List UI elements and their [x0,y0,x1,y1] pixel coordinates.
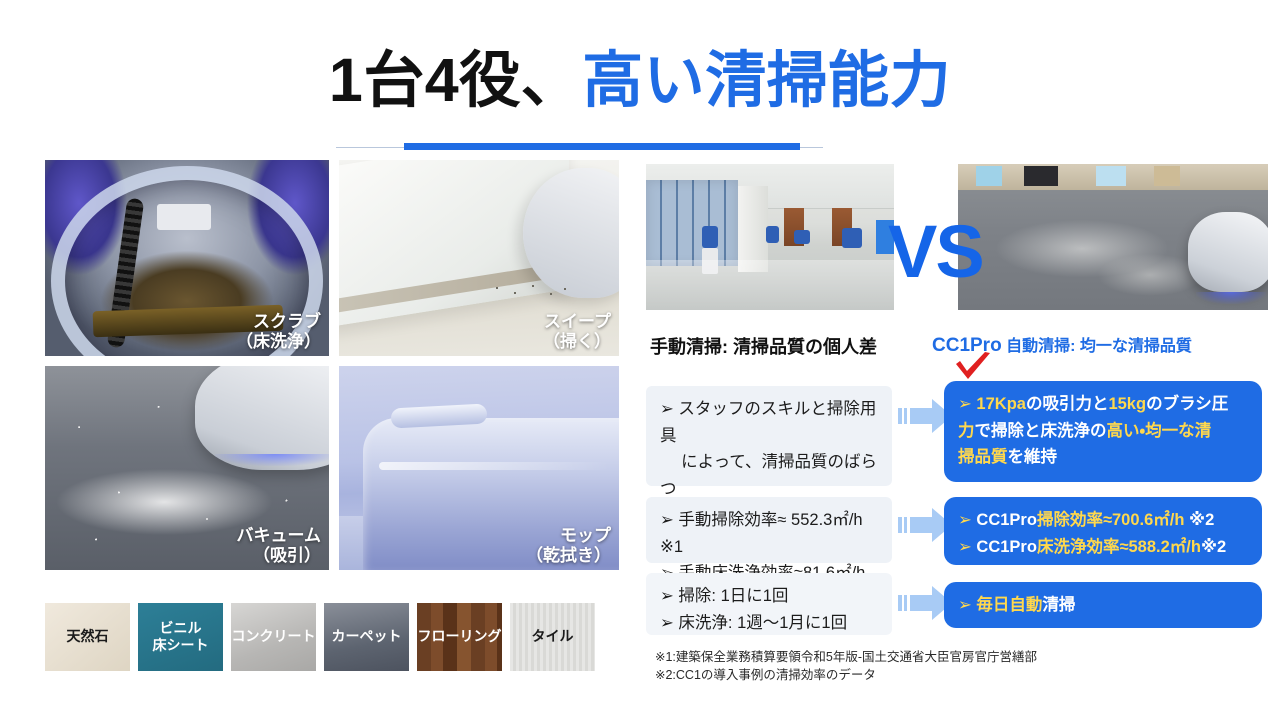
photo-scrub: スクラブ （床洗浄） [45,160,329,356]
manual-point-1: ➢ スタッフのスキルと掃除用具 によって、清掃品質のばらつ きがある [646,386,892,486]
page-title: 1台4役、高い清掃能力 [0,48,1280,112]
robot-point-2-text: ➢ CC1Pro掃除効率≈700.6㎡/h ※2 ➢ CC1Pro床洗浄効率≈5… [958,507,1248,560]
photo-vacuum: バキューム （吸引） [45,366,329,570]
swatch-vinyl-sheet: ビニル 床シート [138,603,223,671]
photo-manual-cleaning [646,164,894,310]
robot-gloss [379,462,609,470]
shelf-item [976,166,1002,186]
swatch-flooring: フローリング [417,603,502,671]
robot-point-1: ➢ 17Kpaの吸引力と15kgのブラシ圧 力で掃除と床洗浄の高い・均一な清 掃… [944,381,1262,482]
photo-scrub-caption: スクラブ （床洗浄） [236,312,321,352]
page-title-black: 1台4役、 [329,46,582,114]
swatch-label: 天然石 [67,628,109,646]
swatch-label: コンクリート [232,628,316,646]
swatch-natural-stone: 天然石 [45,603,130,671]
manual-point-2: ➢ 手動掃除効率≈ 552.3㎡/h ※1 ➢ 手動床洗浄効率≈81.6㎡/h … [646,497,892,563]
shelf-item [1096,166,1126,186]
robot-led-glow [1196,292,1266,304]
machine-plate [157,204,211,230]
photo-sweep: スイープ （掃く） [339,160,619,356]
page-title-blue: 高い清掃能力 [582,46,951,114]
shelf-item [1024,166,1058,186]
swatch-tile: タイル [510,603,595,671]
worker [702,226,718,248]
robot-header-rest: 自動清掃: 均一な清掃品質 [1002,338,1192,355]
photo-robot-cleaning [958,164,1268,310]
swatch-label: ビニル 床シート [153,620,209,655]
vs-label: VS [888,215,983,289]
swatch-label: カーペット [332,628,402,646]
manual-point-3: ➢ 掃除: 1日に1回 ➢ 床洗浄: 1週～1月に1回 [646,573,892,635]
shelf-item [1154,166,1180,186]
floor-debris [489,282,579,300]
worker [842,228,862,248]
cleaning-robot [1188,212,1268,292]
footnotes: ※1:建築保全業務積算要領令和5年版-国土交通省大臣官房官庁営繕部 ※2:CC1… [655,649,1037,685]
swatch-label: タイル [532,628,574,646]
floor-type-swatches: 天然石 ビニル 床シート コンクリート カーペット フローリング タイル [45,603,595,671]
slide-root: 1台4役、高い清掃能力 スクラブ （床洗浄） スイープ （掃く） バキューム （… [0,0,1280,720]
photo-mop-caption: モップ （乾拭き） [526,526,611,566]
manual-column-header: 手動清掃: 清掃品質の個人差 [650,333,877,359]
photo-mop: モップ （乾拭き） [339,366,619,570]
red-check-icon [952,352,994,384]
robot-point-3-text: ➢ 毎日自動清掃 [958,592,1248,619]
window-wall [646,180,738,266]
robot-point-1-text: ➢ 17Kpaの吸引力と15kgのブラシ圧 力で掃除と床洗浄の高い・均一な清 掃… [958,391,1248,471]
photo-sweep-caption: スイープ （掃く） [543,312,611,352]
worker [794,230,810,244]
robot-point-2: ➢ CC1Pro掃除効率≈700.6㎡/h ※2 ➢ CC1Pro床洗浄効率≈5… [944,497,1262,565]
floor-sheen [646,260,894,310]
worker [766,226,779,243]
robot-led-glow [215,454,329,466]
swatch-carpet: カーペット [324,603,409,671]
photo-vacuum-caption: バキューム （吸引） [237,526,322,566]
title-divider-accent [404,143,800,150]
swatch-concrete: コンクリート [231,603,316,671]
manual-point-3-text: ➢ 掃除: 1日に1回 ➢ 床洗浄: 1週～1月に1回 [660,583,880,636]
robot-point-3: ➢ 毎日自動清掃 [944,582,1262,628]
swatch-label: フローリング [418,628,502,646]
